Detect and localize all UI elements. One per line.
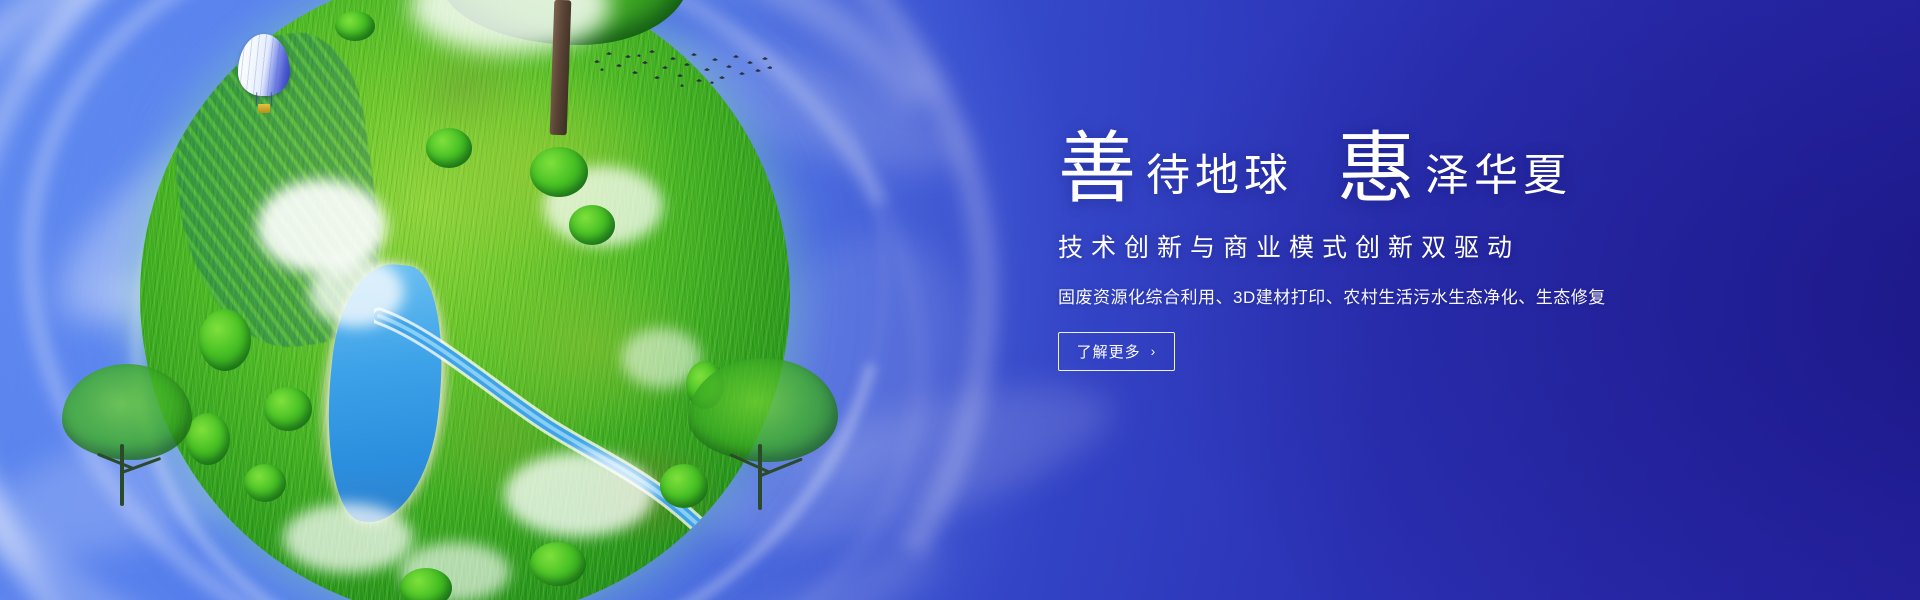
tree-blob bbox=[264, 387, 312, 431]
rim-tree-right bbox=[688, 358, 838, 518]
tree-blob bbox=[186, 413, 230, 465]
tree-blob bbox=[244, 464, 286, 502]
bird-flock-icon bbox=[592, 48, 772, 94]
tree-blob bbox=[335, 11, 375, 41]
hero-banner: 善 待地球 惠 泽华夏 技术创新与商业模式创新双驱动 固废资源化综合利用、3D建… bbox=[0, 0, 1920, 600]
tree-mist bbox=[410, 0, 610, 53]
learn-more-label: 了解更多 bbox=[1077, 341, 1141, 362]
tree-blob bbox=[199, 309, 251, 371]
tree-blob bbox=[569, 205, 615, 245]
chevron-right-icon: › bbox=[1151, 344, 1157, 358]
headline-rest-2: 泽华夏 bbox=[1415, 154, 1572, 198]
hero-description: 固废资源化综合利用、3D建材打印、农村生活污水生态净化、生态修复 bbox=[1058, 283, 1678, 308]
headline-accent-1: 善 bbox=[1058, 130, 1136, 208]
headline-rest-1: 待地球 bbox=[1136, 154, 1293, 198]
hot-air-balloon-icon bbox=[238, 34, 290, 122]
tree-blob bbox=[530, 542, 586, 586]
rim-tree-left bbox=[62, 364, 192, 514]
hero-subtitle: 技术创新与商业模式创新双驱动 bbox=[1058, 228, 1678, 264]
balloon-envelope bbox=[238, 34, 290, 96]
tree-blob bbox=[426, 128, 472, 168]
headline-accent-2: 惠 bbox=[1337, 130, 1415, 208]
tree-blob bbox=[400, 568, 452, 600]
learn-more-button[interactable]: 了解更多 › bbox=[1058, 332, 1175, 371]
balloon-basket bbox=[258, 104, 270, 113]
hero-text-panel: 善 待地球 惠 泽华夏 技术创新与商业模式创新双驱动 固废资源化综合利用、3D建… bbox=[1058, 128, 1678, 371]
hero-headline: 善 待地球 惠 泽华夏 bbox=[1058, 128, 1678, 206]
tree-blob bbox=[530, 147, 588, 197]
